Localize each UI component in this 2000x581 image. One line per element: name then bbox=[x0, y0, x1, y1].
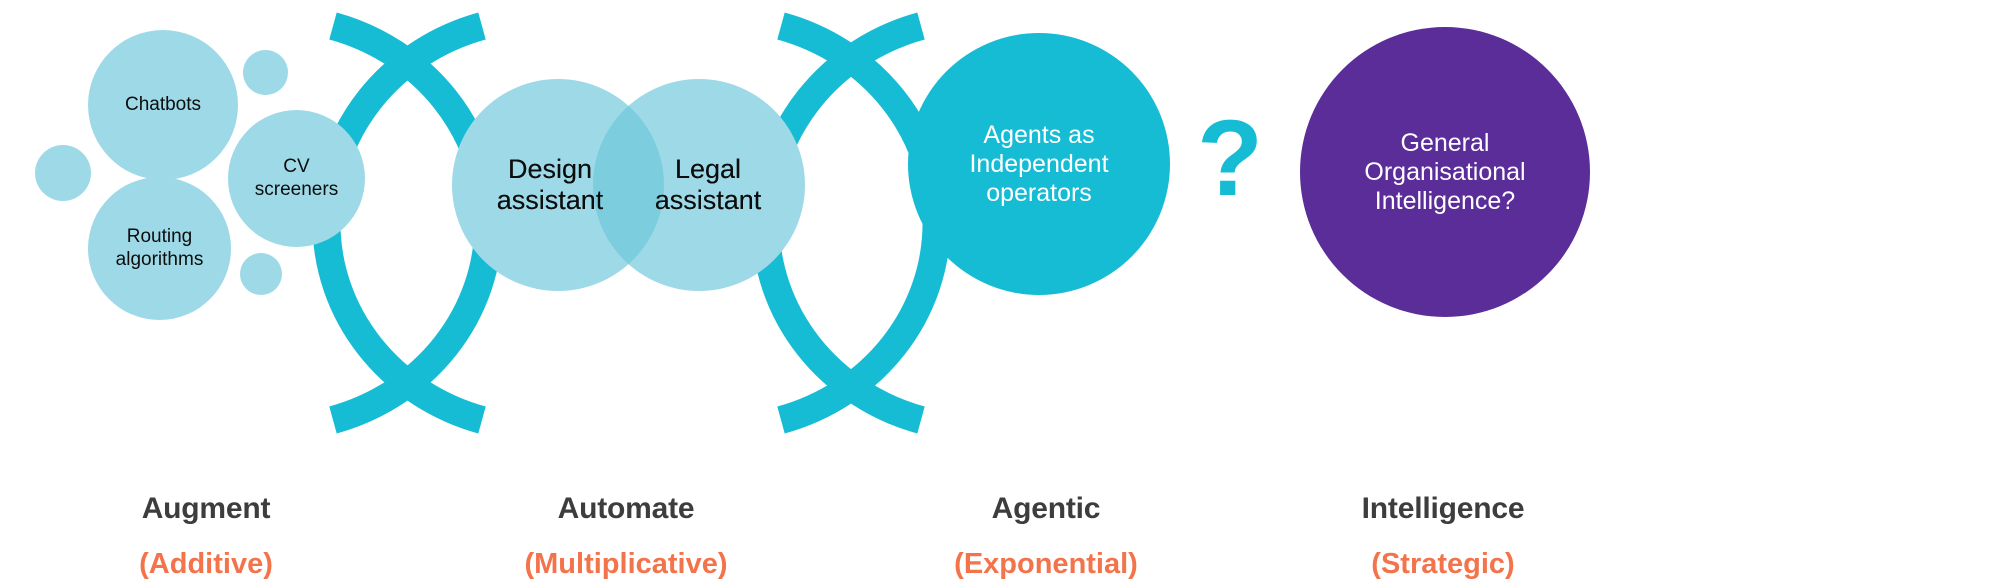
caption-agentic: Agentic (Exponential) bbox=[954, 492, 1138, 581]
caption-intelligence: Intelligence (Strategic) bbox=[1362, 492, 1525, 581]
stage-name: Intelligence bbox=[1362, 492, 1525, 526]
diagram-canvas: Chatbots CV screeners Routing algorithms… bbox=[0, 0, 2000, 571]
stage-captions-layer: Augment (Additive) Automate (Multiplicat… bbox=[0, 0, 2000, 571]
stage-name: Agentic bbox=[954, 492, 1138, 526]
stage-name: Automate bbox=[524, 492, 727, 526]
stage-qualifier: (Additive) bbox=[139, 548, 273, 581]
caption-augment: Augment (Additive) bbox=[139, 492, 273, 581]
caption-automate: Automate (Multiplicative) bbox=[524, 492, 727, 581]
stage-qualifier: (Multiplicative) bbox=[524, 548, 727, 581]
stage-qualifier: (Strategic) bbox=[1362, 548, 1525, 581]
stage-qualifier: (Exponential) bbox=[954, 548, 1138, 581]
stage-name: Augment bbox=[139, 492, 273, 526]
